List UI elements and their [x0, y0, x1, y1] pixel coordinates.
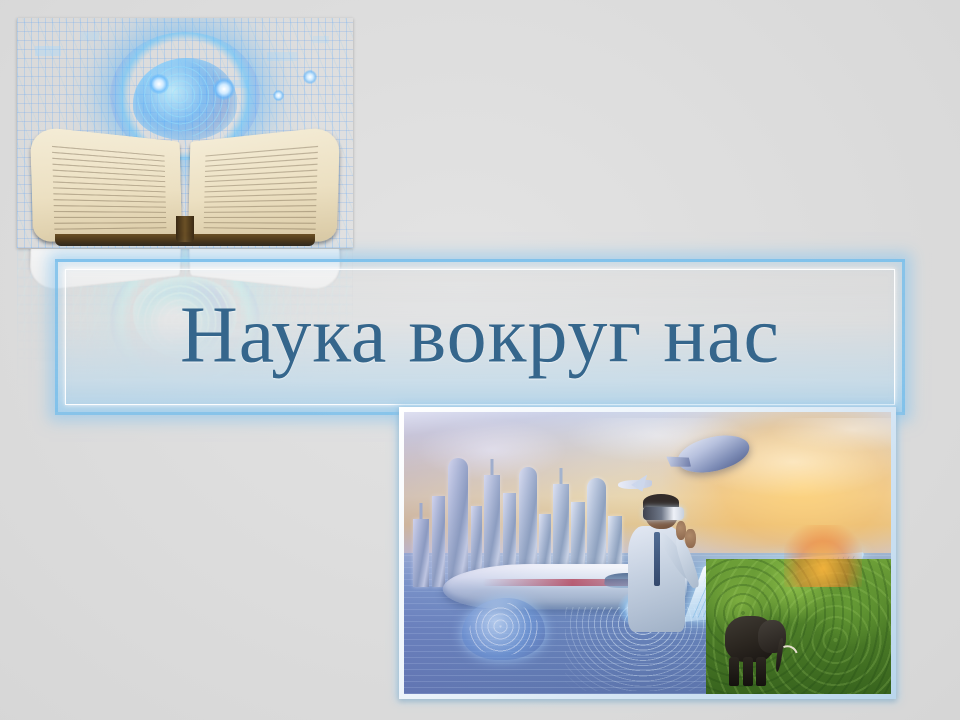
- open-book-icon: [51, 136, 319, 246]
- future-science-collage-image[interactable]: [399, 407, 896, 699]
- book-image-frame: [17, 18, 353, 248]
- mammoth-icon: [725, 601, 788, 686]
- spark-icon: [303, 70, 317, 84]
- collage-canvas: [404, 412, 891, 694]
- book-and-brain-circuit-image[interactable]: [17, 18, 353, 248]
- title-box[interactable]: Наука вокруг нас: [47, 251, 913, 423]
- book-spine: [176, 216, 194, 242]
- man-hand: [685, 529, 695, 548]
- book-page-right: [188, 126, 340, 242]
- holographic-brain-icon: [462, 598, 545, 660]
- page-title: Наука вокруг нас: [47, 295, 913, 375]
- slide-canvas: Наука вокруг нас: [0, 0, 960, 720]
- book-text-lines: [52, 144, 167, 230]
- fire-glow: [784, 525, 862, 587]
- man-tie: [654, 532, 659, 586]
- book-page-left: [30, 126, 182, 242]
- book-text-lines: [203, 144, 318, 230]
- spark-icon: [149, 74, 169, 94]
- skyscraper: [448, 458, 469, 587]
- skyscraper: [432, 496, 446, 587]
- vr-goggles-icon: [643, 507, 684, 519]
- airplane-icon: [618, 480, 652, 489]
- man-with-vr-headset: [623, 497, 701, 632]
- collage-image-frame: [399, 407, 896, 699]
- spark-icon: [213, 78, 235, 100]
- skyscraper: [413, 519, 429, 586]
- spark-icon: [273, 90, 284, 101]
